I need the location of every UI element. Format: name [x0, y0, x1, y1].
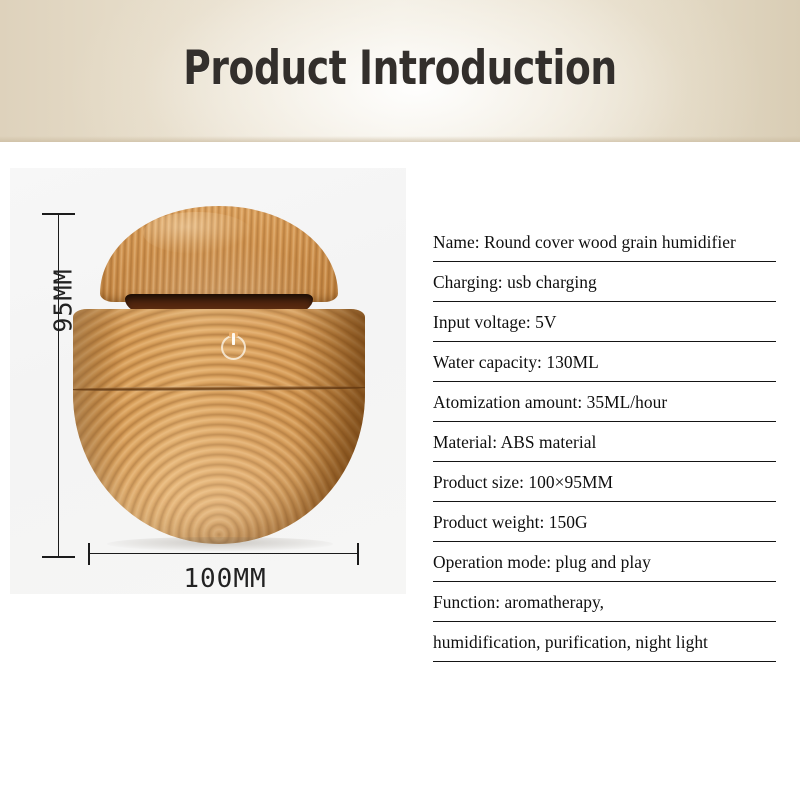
body-shadow-right: [295, 309, 365, 544]
spec-row: Input voltage: 5V: [433, 302, 776, 342]
header-banner: Product Introduction: [0, 0, 800, 142]
width-dimension-label: 100MM: [70, 564, 380, 594]
spec-row-text: Product weight: 150G: [433, 512, 588, 532]
body-shadow-left: [73, 309, 125, 544]
spec-row: Product weight: 150G: [433, 502, 776, 542]
spec-row-text: humidification, purification, night ligh…: [433, 632, 708, 652]
power-button-icon: [221, 335, 246, 360]
product-ground-shadow: [107, 537, 333, 551]
spec-row: Material: ABS material: [433, 422, 776, 462]
width-dimension-line: [88, 553, 359, 554]
spec-row-text: Name: Round cover wood grain humidifier: [433, 232, 736, 252]
spec-row: humidification, purification, night ligh…: [433, 622, 776, 662]
spec-row: Water capacity: 130ML: [433, 342, 776, 382]
spec-row-text: Material: ABS material: [433, 432, 596, 452]
power-icon-stem: [232, 333, 234, 345]
spec-row: Name: Round cover wood grain humidifier: [433, 222, 776, 262]
spec-row-text: Operation mode: plug and play: [433, 552, 651, 572]
spec-row: Charging: usb charging: [433, 262, 776, 302]
humidifier-body: [73, 309, 365, 544]
humidifier-lid: [100, 206, 338, 302]
product-image-panel: 95MM 100MM: [10, 168, 406, 594]
page-title: Product Introduction: [80, 43, 720, 95]
lid-highlight: [143, 212, 252, 254]
spec-row-text: Function: aromatherapy,: [433, 592, 604, 612]
spec-row: Product size: 100×95MM: [433, 462, 776, 502]
humidifier-illustration: [73, 206, 365, 544]
specification-list: Name: Round cover wood grain humidifier …: [433, 222, 776, 662]
spec-row: Atomization amount: 35ML/hour: [433, 382, 776, 422]
spec-row-text: Charging: usb charging: [433, 272, 597, 292]
spec-row-text: Water capacity: 130ML: [433, 352, 599, 372]
spec-row: Function: aromatherapy,: [433, 582, 776, 622]
spec-row-text: Atomization amount: 35ML/hour: [433, 392, 667, 412]
spec-row-text: Input voltage: 5V: [433, 312, 557, 332]
spec-row-text: Product size: 100×95MM: [433, 472, 613, 492]
spec-row: Operation mode: plug and play: [433, 542, 776, 582]
